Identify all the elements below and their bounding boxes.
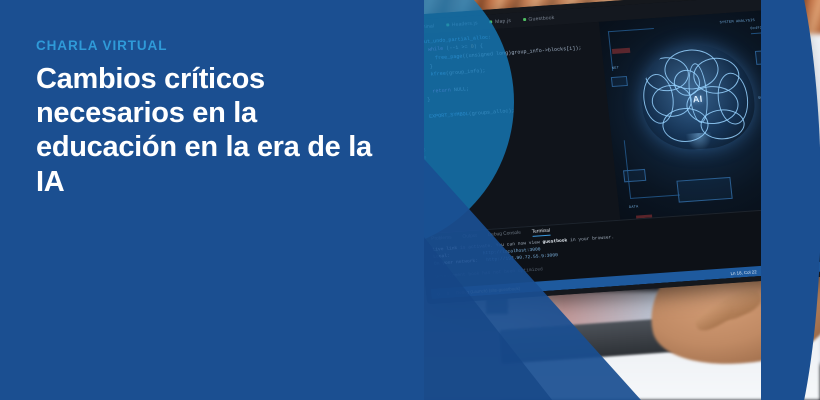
- panel-tab-terminal[interactable]: Terminal: [532, 229, 551, 237]
- ai-brain-label: AI: [692, 94, 703, 105]
- page-title: Cambios críticos necesarios en la educac…: [36, 62, 386, 199]
- panel-curved-edge: [761, 0, 820, 400]
- tab-guestbook[interactable]: Guestbook: [523, 14, 555, 22]
- banner-content: CHARLA VIRTUAL Cambios críticos necesari…: [0, 0, 424, 400]
- banner: Terminal Headers.js Map.js Guestbook: [0, 0, 820, 400]
- tab-icon: [523, 18, 526, 21]
- developer-workstation-photo: Terminal Headers.js Map.js Guestbook: [390, 0, 820, 400]
- event-type-kicker: CHARLA VIRTUAL: [36, 38, 424, 53]
- tab-label: Map.js: [495, 17, 512, 24]
- status-position[interactable]: Ln 18, Col 22: [730, 269, 757, 276]
- tab-label: Guestbook: [528, 14, 555, 22]
